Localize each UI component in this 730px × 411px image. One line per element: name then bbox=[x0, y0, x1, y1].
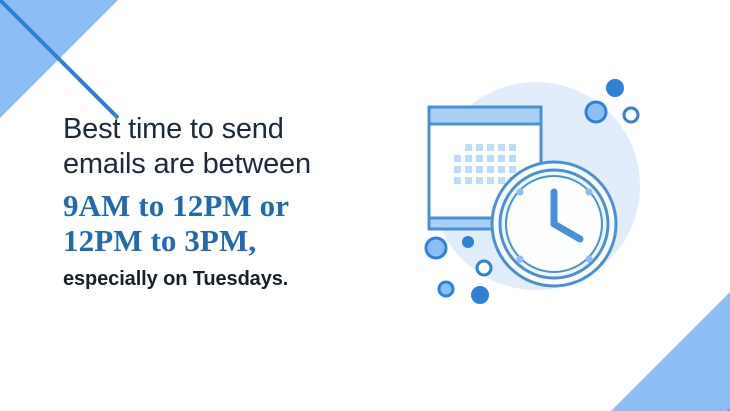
ring-light-bottom-left bbox=[426, 238, 446, 258]
calendar-day-cell bbox=[476, 166, 483, 173]
calendar-day-cell bbox=[454, 166, 461, 173]
ring-open-top-right bbox=[624, 108, 638, 122]
illustration-svg bbox=[398, 52, 678, 322]
calendar-day-cell bbox=[498, 166, 505, 173]
calendar-day-cell bbox=[465, 144, 472, 151]
calendar-day-cell bbox=[487, 177, 494, 184]
headline-line-accent: 9AM to 12PM or 12PM to 3PM, bbox=[63, 188, 383, 258]
ring-light-bottom bbox=[439, 282, 453, 296]
calendar-day-cell bbox=[454, 177, 461, 184]
clock-icon bbox=[492, 162, 616, 286]
corner-edge-line-top-left bbox=[0, 0, 120, 120]
calendar-clock-illustration bbox=[398, 52, 678, 322]
calendar-day-cell bbox=[487, 144, 494, 151]
calendar-day-cell bbox=[476, 155, 483, 162]
ring-open-bottom-mid bbox=[477, 261, 491, 275]
calendar-header-bar bbox=[429, 107, 541, 124]
calendar-day-cell bbox=[465, 166, 472, 173]
calendar-day-cell bbox=[498, 155, 505, 162]
calendar-day-cell bbox=[476, 144, 483, 151]
clock-tick-dot bbox=[586, 256, 593, 263]
calendar-day-cell bbox=[476, 177, 483, 184]
calendar-day-cell bbox=[454, 155, 461, 162]
dot-solid-top-right bbox=[606, 79, 624, 97]
calendar-day-cell bbox=[498, 177, 505, 184]
calendar-day-cell bbox=[498, 144, 505, 151]
dot-solid-mid-left bbox=[462, 236, 474, 248]
calendar-day-cell bbox=[509, 155, 516, 162]
calendar-day-cell bbox=[465, 155, 472, 162]
calendar-day-cell bbox=[509, 144, 516, 151]
dot-solid-bottom bbox=[471, 286, 489, 304]
infographic-canvas: Best time to send emails are between 9AM… bbox=[0, 0, 730, 411]
clock-tick-dot bbox=[517, 189, 524, 196]
headline-block: Best time to send emails are between 9AM… bbox=[63, 112, 383, 292]
calendar-day-cell bbox=[487, 155, 494, 162]
calendar-day-cell bbox=[487, 166, 494, 173]
clock-tick-dot bbox=[517, 256, 524, 263]
ring-light-top-right bbox=[586, 102, 606, 122]
calendar-day-cell bbox=[465, 177, 472, 184]
headline-line-subtext: especially on Tuesdays. bbox=[63, 266, 383, 292]
clock-tick-dot bbox=[586, 189, 593, 196]
headline-line-primary: Best time to send emails are between bbox=[63, 112, 383, 182]
calendar-day-cell bbox=[509, 166, 516, 173]
